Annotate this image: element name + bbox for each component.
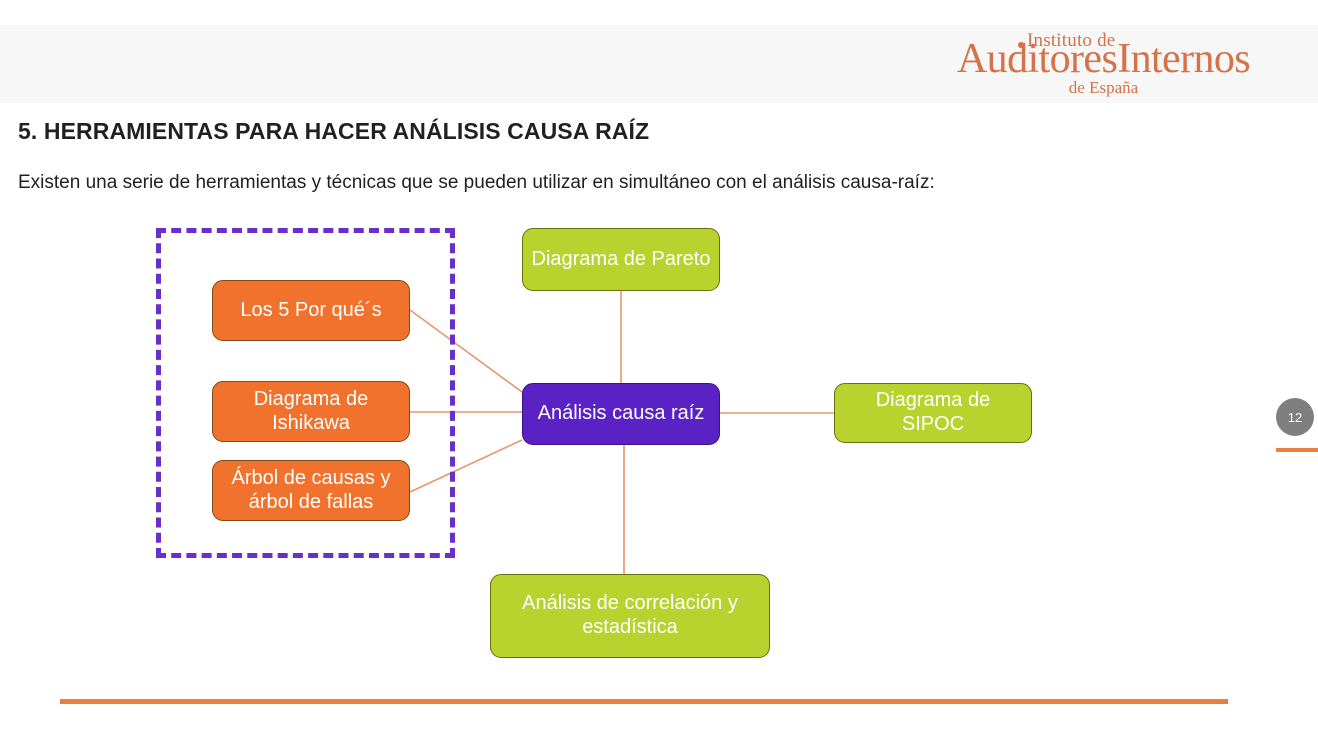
root-cause-tools-diagram: Los 5 Por qué´s Diagrama de Ishikawa Árb… xyxy=(0,0,1318,749)
node-diagrama-de-ishikawa[interactable]: Diagrama de Ishikawa xyxy=(212,381,410,442)
page-number-badge: 12 xyxy=(1276,398,1314,436)
node-label: Los 5 Por qué´s xyxy=(240,299,381,323)
node-label: Análisis causa raíz xyxy=(538,402,705,426)
node-diagrama-de-pareto[interactable]: Diagrama de Pareto xyxy=(522,228,720,291)
node-analisis-de-correlacion-y-estadistica[interactable]: Análisis de correlación y estadística xyxy=(490,574,770,658)
node-label: Árbol de causas y árbol de fallas xyxy=(221,467,401,514)
node-analisis-causa-raiz[interactable]: Análisis causa raíz xyxy=(522,383,720,445)
node-arbol-de-causas-y-fallas[interactable]: Árbol de causas y árbol de fallas xyxy=(212,460,410,521)
node-label: Diagrama de Ishikawa xyxy=(221,388,401,435)
node-label: Diagrama de Pareto xyxy=(532,248,711,272)
page-number-indicator: 12 xyxy=(1276,398,1314,458)
node-diagrama-de-sipoc[interactable]: Diagrama de SIPOC xyxy=(834,383,1032,443)
node-label: Análisis de correlación y estadística xyxy=(499,592,761,639)
node-los-5-por-ques[interactable]: Los 5 Por qué´s xyxy=(212,280,410,341)
footer-rule xyxy=(60,699,1228,704)
page-badge-underline xyxy=(1276,448,1318,452)
node-label: Diagrama de SIPOC xyxy=(843,389,1023,436)
